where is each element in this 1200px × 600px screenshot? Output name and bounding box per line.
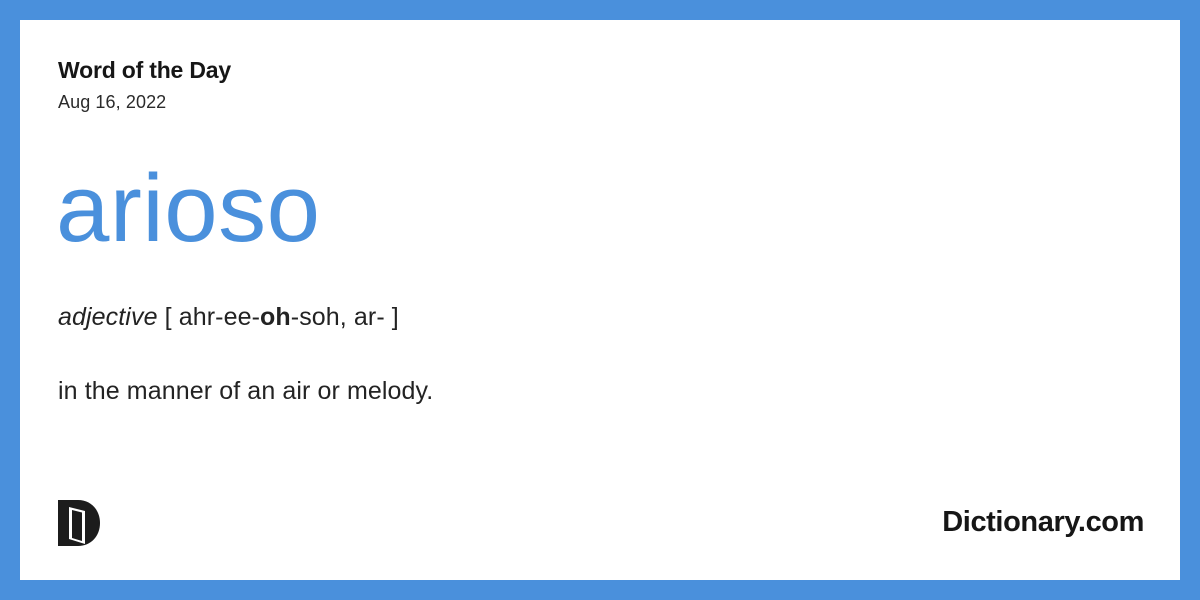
- bracket-open: [: [165, 303, 172, 331]
- pronunciation-line: adjective [ ahr-ee-oh-soh, ar- ]: [58, 303, 399, 332]
- part-of-speech: adjective: [58, 303, 158, 331]
- dictionary-wordmark: Dictionary.com: [942, 506, 1144, 539]
- blue-border-frame: Word of the Day Aug 16, 2022 arioso adje…: [0, 0, 1200, 600]
- entry-date: Aug 16, 2022: [58, 92, 231, 113]
- page-title: Word of the Day: [58, 58, 231, 83]
- definition-text: in the manner of an air or melody.: [58, 377, 433, 406]
- dictionary-d-logo-icon: [56, 498, 102, 548]
- word-of-the-day-card: Word of the Day Aug 16, 2022 arioso adje…: [20, 20, 1180, 580]
- phonetic-before: ahr-ee-: [172, 303, 260, 331]
- word-headword: arioso: [56, 156, 320, 262]
- phonetic-after: -soh, ar-: [291, 303, 392, 331]
- card-header: Word of the Day Aug 16, 2022: [58, 58, 231, 113]
- bracket-close: ]: [392, 303, 399, 331]
- phonetic-stressed-syllable: oh: [260, 303, 291, 331]
